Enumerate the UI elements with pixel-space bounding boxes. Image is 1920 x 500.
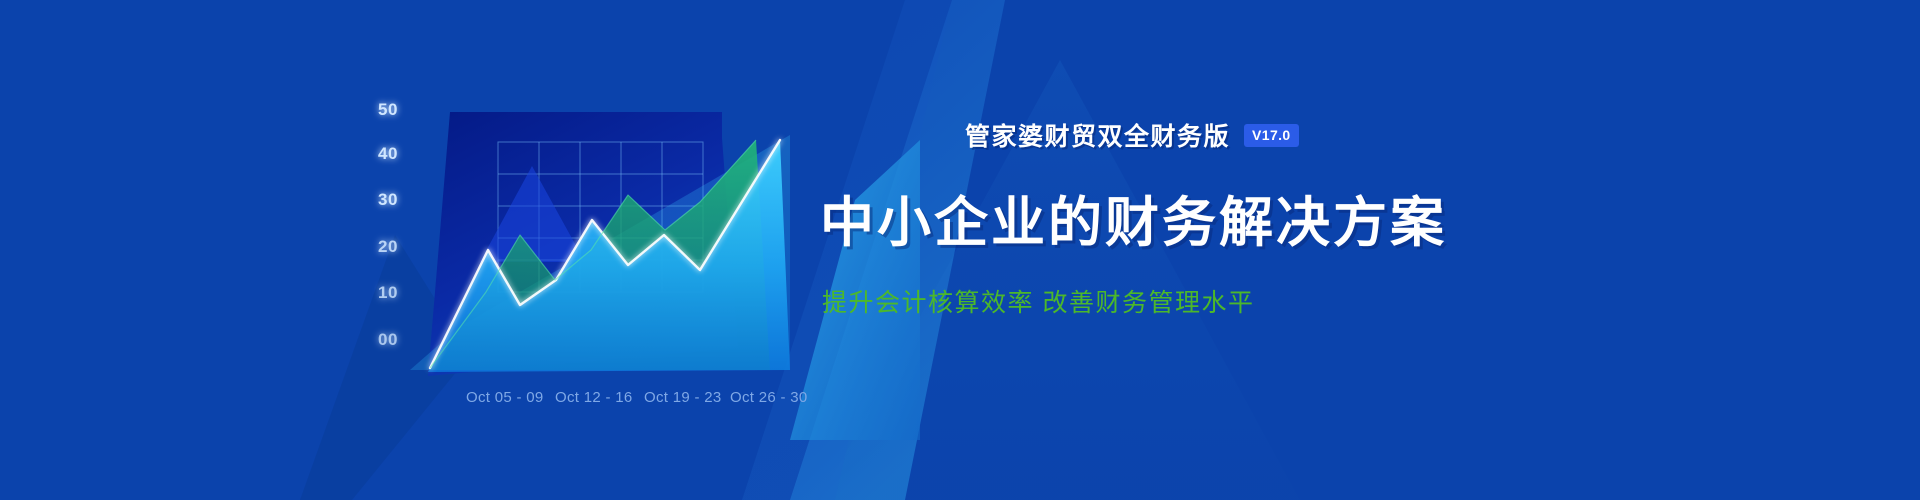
x-tick-label: Oct 19 - 23 bbox=[644, 389, 722, 406]
promo-banner: 50 40 30 20 10 00 Oct 05 - 09 Oct 12 - 1… bbox=[0, 0, 1920, 500]
y-tick-label: 30 bbox=[378, 190, 398, 209]
chart-x-axis: Oct 05 - 09 Oct 12 - 16 Oct 19 - 23 Oct … bbox=[466, 389, 808, 406]
page-subtitle: 提升会计核算效率 改善财务管理水平 bbox=[822, 283, 1880, 319]
page-title: 中小企业的财务解决方案 bbox=[820, 178, 1880, 257]
x-tick-label: Oct 05 - 09 bbox=[466, 389, 544, 406]
y-tick-label: 40 bbox=[378, 144, 398, 163]
version-badge: V17.0 bbox=[1244, 124, 1299, 147]
y-tick-label: 20 bbox=[378, 237, 398, 256]
y-tick-label: 50 bbox=[378, 100, 398, 119]
x-tick-label: Oct 26 - 30 bbox=[730, 389, 808, 406]
brand-row: 管家婆财贸双全财务版 V17.0 bbox=[965, 120, 1880, 150]
brand-name: 管家婆财贸双全财务版 bbox=[965, 117, 1230, 153]
promo-copy: 管家婆财贸双全财务版 V17.0 中小企业的财务解决方案 提升会计核算效率 改善… bbox=[1000, 120, 1880, 319]
y-tick-label: 00 bbox=[378, 330, 398, 349]
y-tick-label: 10 bbox=[378, 283, 398, 302]
chart-y-axis: 50 40 30 20 10 00 bbox=[378, 100, 398, 349]
x-tick-label: Oct 12 - 16 bbox=[555, 389, 633, 406]
